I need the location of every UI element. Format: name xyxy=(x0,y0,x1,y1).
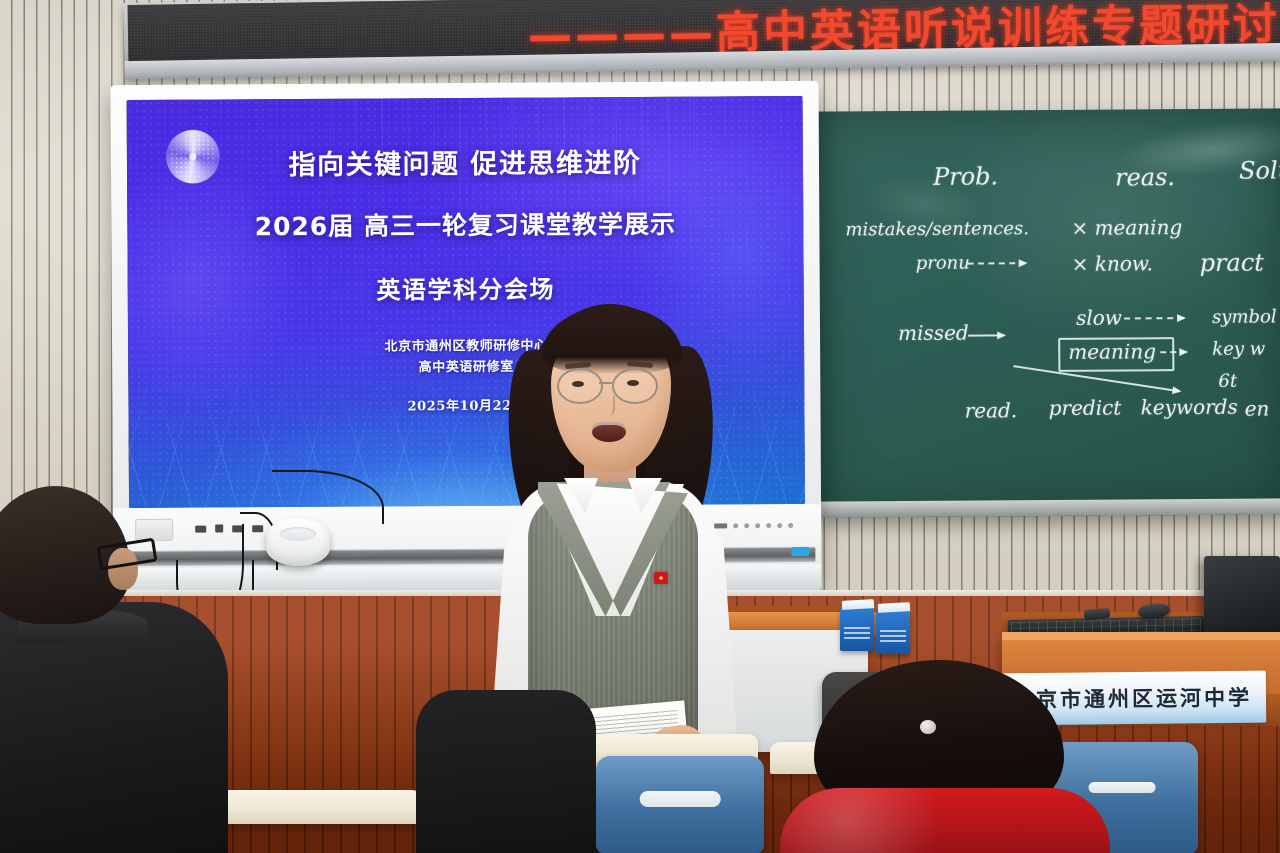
party-emblem-pin xyxy=(654,572,668,584)
chalk-note: reas. xyxy=(1115,163,1175,191)
hair-fringe xyxy=(542,306,682,374)
eyeglasses-bridge xyxy=(599,382,612,384)
chalk-note: slow xyxy=(1076,306,1122,330)
computer-monitor xyxy=(1204,556,1280,634)
red-garment xyxy=(780,788,1110,853)
foreground-right-attendee xyxy=(790,660,1090,853)
chalk-note: en xyxy=(1245,396,1270,420)
classroom-presentation-scene: ————高中英语听说训练专题研讨活 Prob. reas. Solu mista… xyxy=(0,0,1280,853)
chalk-note: mistakes/sentences. xyxy=(845,218,1029,240)
chalk-note: missed xyxy=(898,321,969,345)
chalk-note: × know. xyxy=(1072,251,1153,276)
led-indicator xyxy=(777,523,782,528)
chalk-note: pronu xyxy=(916,253,970,274)
chalk-note: symbol xyxy=(1212,306,1277,327)
slide-heading-1: 指向关键问题 促进思维进阶 xyxy=(127,148,803,182)
chalk-note: pract xyxy=(1200,249,1264,277)
chalk-note: 6t xyxy=(1218,371,1237,392)
chalk-note: read. xyxy=(965,398,1018,422)
student-chair[interactable] xyxy=(596,756,764,853)
chalkboard-tray xyxy=(817,498,1280,517)
chalk-note: predict xyxy=(1049,396,1122,421)
chalk-note: Solu xyxy=(1239,156,1280,184)
led-indicator xyxy=(755,523,760,528)
chalk-arrow xyxy=(1160,351,1186,353)
chalk-arrow xyxy=(968,334,1004,336)
status-led-blue xyxy=(791,547,809,556)
slide-heading-2: 2026届 高三一轮复习课堂教学展示 xyxy=(127,204,803,244)
eyeglasses-lens-right xyxy=(612,368,658,404)
led-indicator xyxy=(788,523,793,528)
conference-microphone-puck[interactable] xyxy=(266,518,330,566)
chalk-note: Prob. xyxy=(933,162,998,190)
hair-clip xyxy=(920,720,936,734)
chalk-note: key w xyxy=(1212,339,1265,360)
chalk-note: × meaning xyxy=(1071,215,1182,240)
chalkboard: Prob. reas. Solu mistakes/sentences. pro… xyxy=(815,108,1280,517)
nose xyxy=(600,396,615,416)
tissue-box xyxy=(876,610,910,654)
led-indicator xyxy=(766,523,771,528)
desk-edge xyxy=(1002,632,1280,640)
chalk-note: keywords xyxy=(1141,395,1238,420)
foreground-left-attendee xyxy=(0,486,218,853)
chalk-note: meaning xyxy=(1068,339,1156,364)
eyeglasses-lens-left xyxy=(557,368,603,404)
chalk-arrow xyxy=(968,262,1026,264)
midground-attendee-silhouette xyxy=(416,690,596,853)
mouth xyxy=(592,422,626,442)
tissue-box xyxy=(840,607,874,651)
chalk-arrow xyxy=(1124,317,1184,319)
